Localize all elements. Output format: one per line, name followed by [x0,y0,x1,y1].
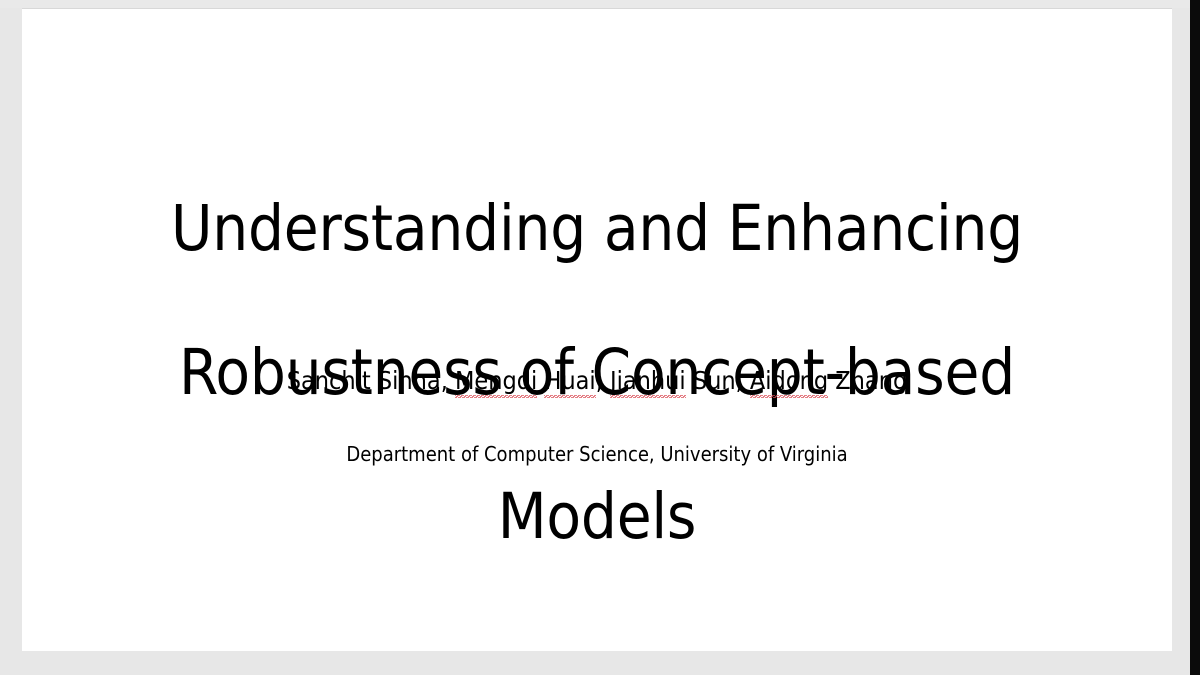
slide-canvas[interactable]: Understanding and Enhancing Robustness o… [22,9,1172,651]
slide-title-line-1: Understanding and Enhancing [22,193,1172,265]
author-name-misspelled: Huai [544,365,595,397]
viewer-left-margin [0,8,22,675]
slide-viewer-screen: Understanding and Enhancing Robustness o… [0,0,1200,675]
author-name-misspelled: Aidong [750,365,828,397]
slide-affiliation: Department of Computer Science, Universi… [22,440,1172,468]
author-name-text: , [596,366,610,395]
author-name-text: Sanchit Sinha, [287,366,455,395]
author-name-misspelled: Mengdi [455,365,537,397]
slide-title-line-3: Models [22,481,1172,553]
viewer-bottom-margin [0,651,1190,675]
viewer-top-band [0,0,1200,8]
author-name-text [537,366,544,395]
slide-authors-text: Sanchit Sinha, Mengdi Huai, Jianhui Sun,… [287,366,908,395]
viewer-right-edge [1190,0,1200,675]
author-name-misspelled: Jianhui [610,365,686,397]
author-name-text: Zhang [828,366,907,395]
viewer-right-margin [1172,8,1190,675]
slide-authors: Sanchit Sinha, Mengdi Huai, Jianhui Sun,… [22,365,1172,397]
author-name-text: Sun, [686,366,750,395]
